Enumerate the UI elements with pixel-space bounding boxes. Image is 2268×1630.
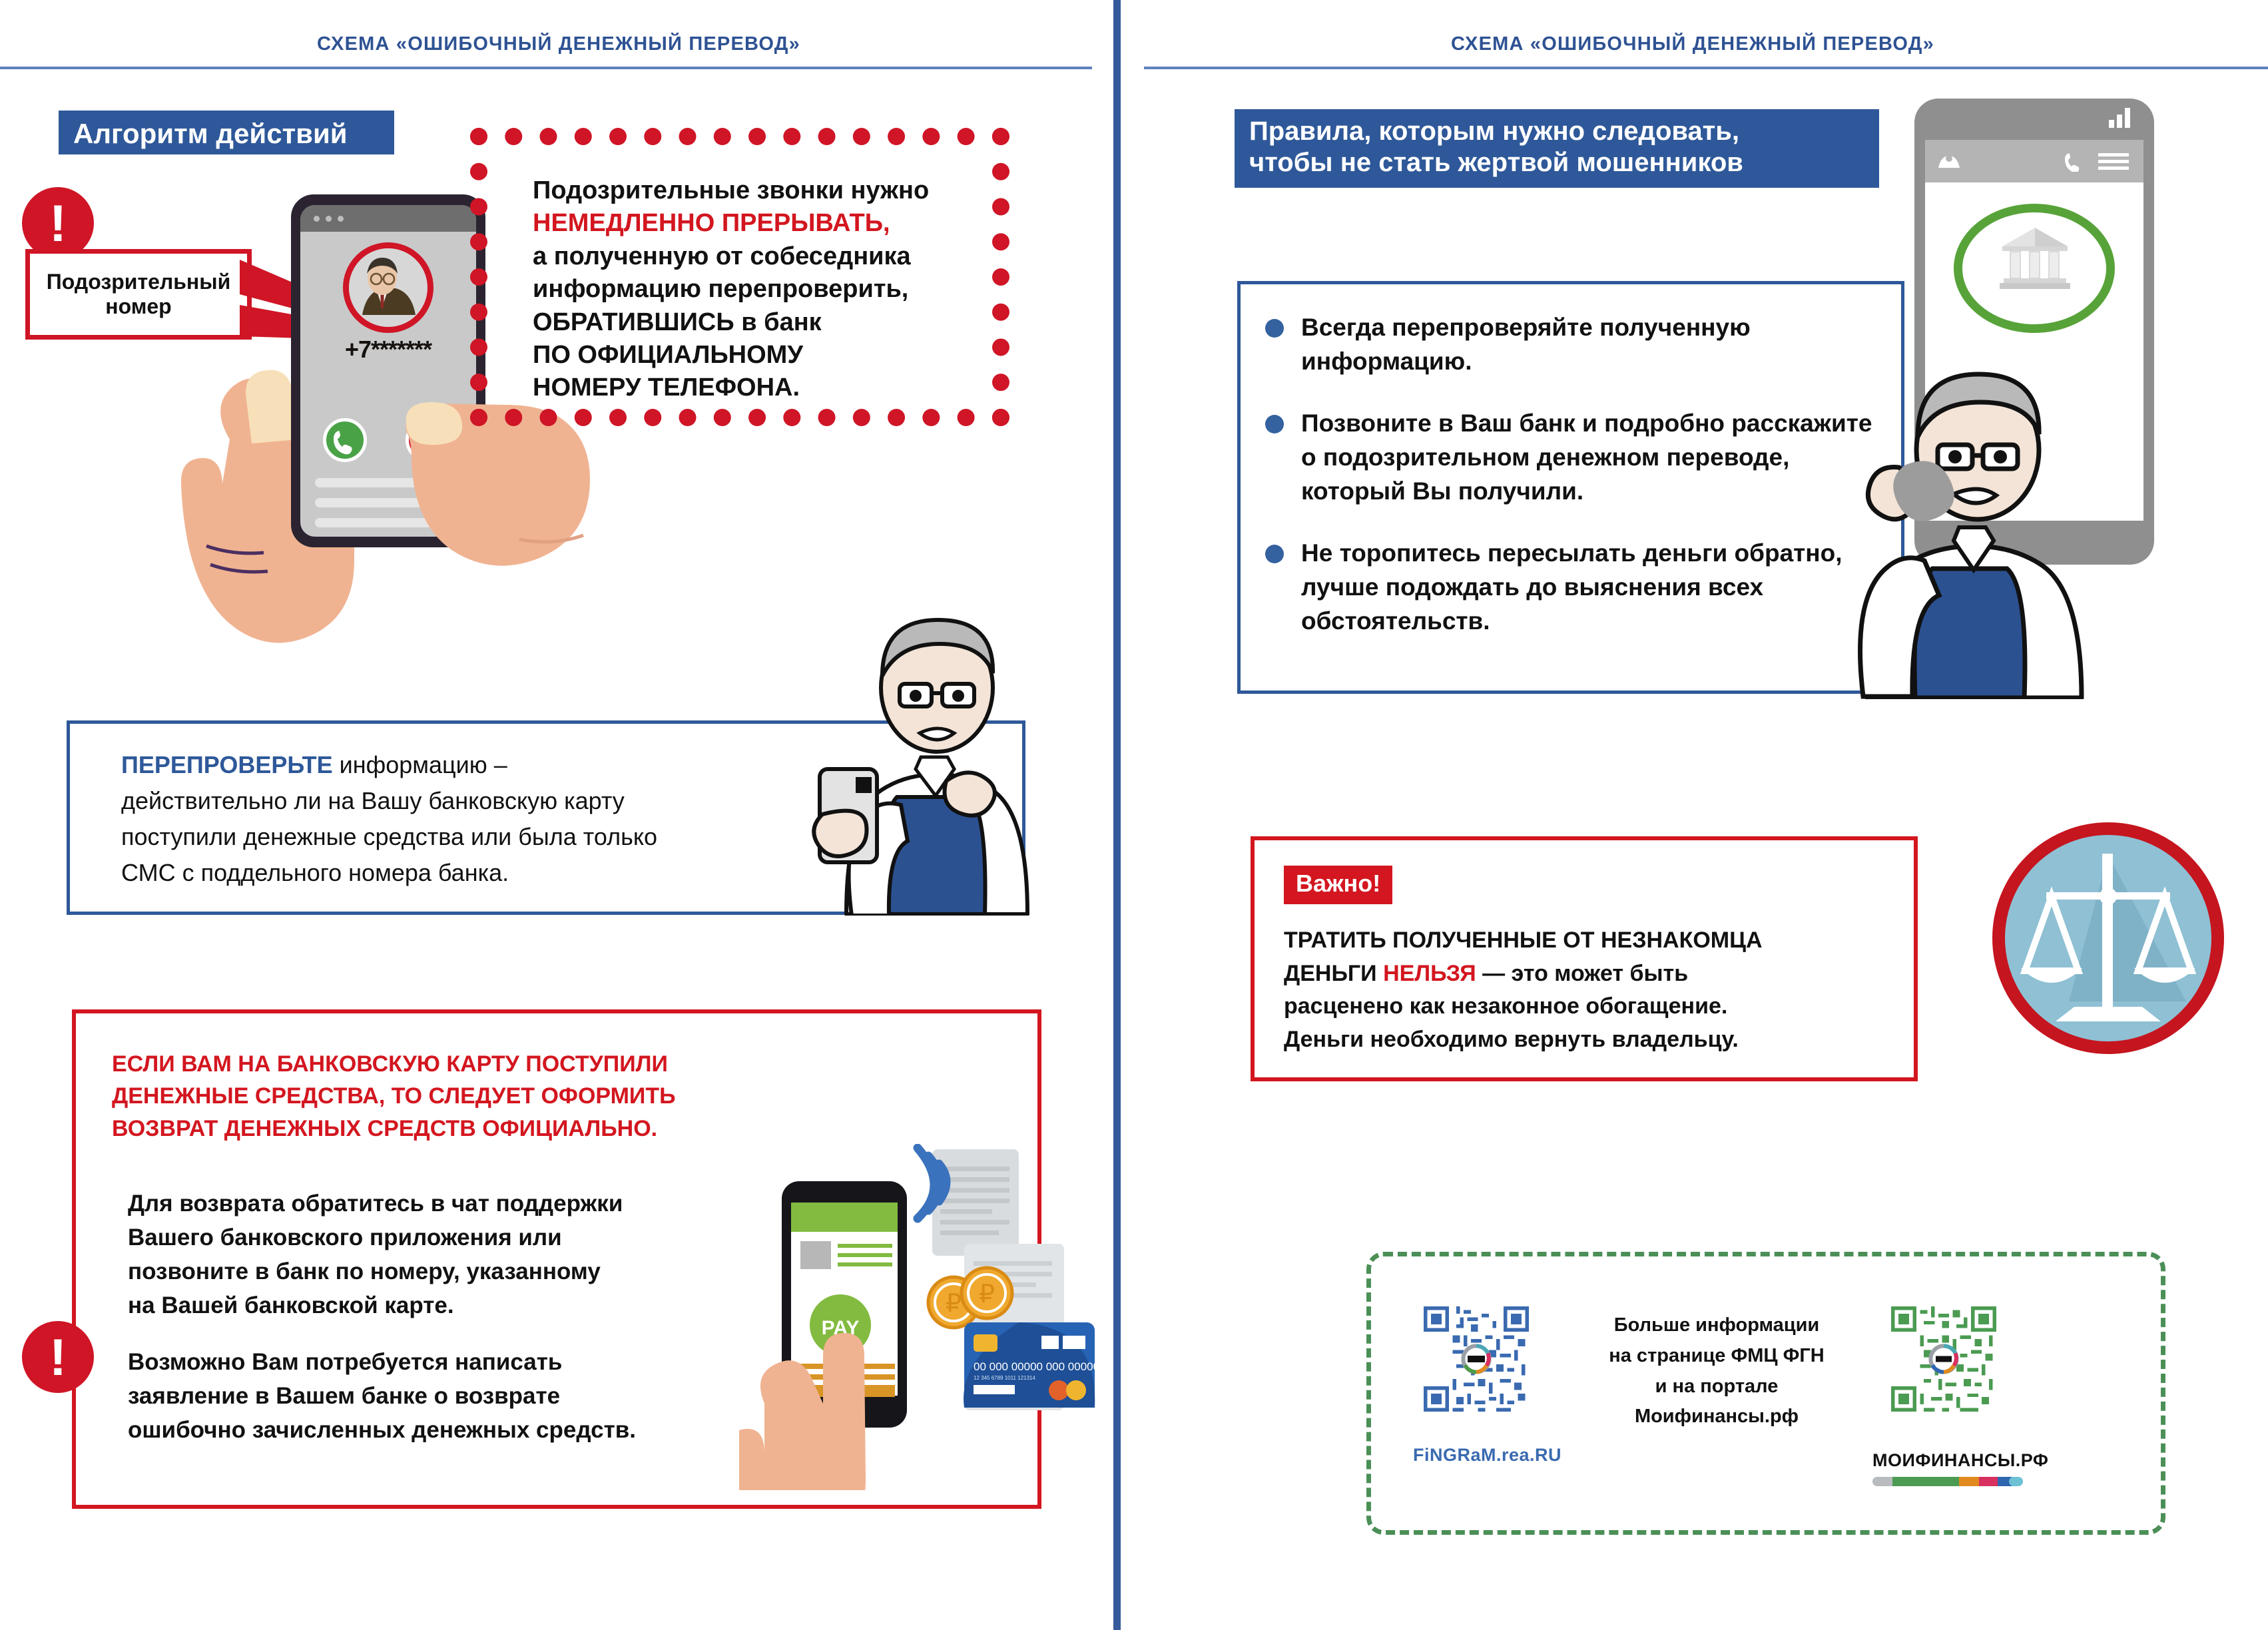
refund-p2-line-3: ошибочно зачисленных денежных средств. bbox=[128, 1413, 740, 1447]
important-text: ТРАТИТЬ ПОЛУЧЕННЫЕ ОТ НЕЗНАКОМЦА ДЕНЬГИ … bbox=[1284, 924, 1883, 1057]
important-line-1: ТРАТИТЬ ПОЛУЧЕННЫЕ ОТ НЕЗНАКОМЦА bbox=[1284, 924, 1883, 957]
more-info-line-2: на странице ФМЦ ФГН bbox=[1583, 1341, 1850, 1372]
important-line-2-red: НЕЛЬЗЯ bbox=[1383, 961, 1476, 986]
qr-caption-moifinansy: МОИФИНАНСЫ.РФ bbox=[1872, 1450, 2048, 1471]
left-page: СХЕМА «ОШИБОЧНЫЙ ДЕНЕЖНЫЙ ПЕРЕВОД» Алгор… bbox=[0, 0, 1117, 1630]
list-item: Всегда перепроверяйте полученную информа… bbox=[1265, 310, 1878, 378]
right-page-header-title: СХЕМА «ОШИБОЧНЫЙ ДЕНЕЖНЫЙ ПЕРЕВОД» bbox=[1117, 33, 2268, 55]
scales-of-justice-icon bbox=[1992, 822, 2224, 1054]
bank-app-topbar bbox=[1925, 140, 2143, 182]
more-info-line-3: и на портале bbox=[1583, 1372, 1850, 1402]
svg-text:₽: ₽ bbox=[946, 1290, 962, 1318]
phone-statusbar bbox=[300, 205, 476, 232]
worried-man-with-phone-illustration bbox=[782, 603, 1049, 916]
card-subline-text: 12 345 6789 1011 121314 bbox=[974, 1375, 1035, 1381]
refund-p1-line-4: на Вашей банковской карте. bbox=[128, 1288, 740, 1322]
rule-text: Не торопитесь пересылать деньги обратно,… bbox=[1301, 536, 1878, 638]
dotted-line-1: Подозрительные звонки нужно bbox=[533, 174, 1025, 207]
qr-code-moifinansy[interactable] bbox=[1891, 1306, 1996, 1412]
warning-icon-suspicious: ! bbox=[22, 187, 94, 259]
refund-p2-line-2: заявление в Вашем банке о возврате bbox=[128, 1379, 740, 1413]
more-info-line-4: Моифинансы.рф bbox=[1583, 1402, 1850, 1432]
dotted-line-4: информацию перепроверить, bbox=[533, 273, 1025, 306]
more-info-text: Больше информации на странице ФМЦ ФГН и … bbox=[1583, 1310, 1850, 1432]
caller-number: +7******* bbox=[300, 336, 476, 364]
recheck-line-1-rest: информацию – bbox=[333, 751, 507, 778]
refund-paragraph-1: Для возврата обратитесь в чат поддержки … bbox=[128, 1187, 740, 1322]
bullet-icon bbox=[1265, 545, 1284, 563]
right-header-rule bbox=[1144, 67, 2268, 69]
important-line-4: Деньги необходимо вернуть владельцу. bbox=[1284, 1023, 1883, 1057]
left-page-header-title: СХЕМА «ОШИБОЧНЫЙ ДЕНЕЖНЫЙ ПЕРЕВОД» bbox=[0, 33, 1117, 55]
section-tag-rules: Правила, которым нужно следовать, чтобы … bbox=[1235, 109, 1879, 188]
refund-heading-line-1: ЕСЛИ ВАМ НА БАНКОВСКУЮ КАРТУ ПОСТУПИЛИ bbox=[112, 1048, 951, 1080]
left-header-rule bbox=[0, 67, 1092, 69]
refund-heading: ЕСЛИ ВАМ НА БАНКОВСКУЮ КАРТУ ПОСТУПИЛИ Д… bbox=[112, 1048, 951, 1145]
list-item: Позвоните в Ваш банк и подробно расскажи… bbox=[1265, 406, 1878, 508]
mobile-payment-illustration: PAY ₽ ₽ 00 000 00000 000 00000 12 345 67… bbox=[739, 1144, 1112, 1490]
section-tag-rules-line-2: чтобы не стать жертвой мошенников bbox=[1249, 147, 1864, 178]
qr-code-fingram[interactable] bbox=[1424, 1306, 1529, 1412]
important-line-3: расценено как незаконное обогащение. bbox=[1284, 990, 1883, 1023]
svg-text:₽: ₽ bbox=[979, 1280, 995, 1308]
important-line-2-a: ДЕНЬГИ bbox=[1284, 961, 1383, 986]
recheck-highlight: ПЕРЕПРОВЕРЬТЕ bbox=[121, 751, 333, 778]
dotted-line-6: ПО ОФИЦИАЛЬНОМУ bbox=[533, 339, 1025, 372]
signal-bars-icon bbox=[2108, 105, 2134, 128]
phone-accept-icon[interactable] bbox=[323, 418, 367, 462]
refund-p1-line-3: позвоните в банк по номеру, указанному bbox=[128, 1254, 740, 1288]
dotted-line-7: НОМЕРУ ТЕЛЕФОНА. bbox=[533, 372, 1025, 404]
qr-caption-fingram: FiNGRaM.rea.RU bbox=[1413, 1445, 1561, 1466]
refund-p1-line-2: Вашего банковского приложения или bbox=[128, 1221, 740, 1254]
dotted-line-2: НЕМЕДЛЕННО ПРЕРЫВАТЬ, bbox=[533, 207, 1025, 240]
rule-text: Всегда перепроверяйте полученную информа… bbox=[1301, 310, 1878, 378]
rules-list: Всегда перепроверяйте полученную информа… bbox=[1265, 310, 1878, 666]
more-info-line-1: Больше информации bbox=[1583, 1310, 1850, 1341]
dotted-advice-text: Подозрительные звонки нужно НЕМЕДЛЕННО П… bbox=[533, 174, 1025, 405]
refund-heading-line-3: ВОЗВРАТ ДЕНЕЖНЫХ СРЕДСТВ ОФИЦИАЛЬНО. bbox=[112, 1113, 951, 1145]
refund-p1-line-1: Для возврата обратитесь в чат поддержки bbox=[128, 1187, 740, 1221]
right-page: СХЕМА «ОШИБОЧНЫЙ ДЕНЕЖНЫЙ ПЕРЕВОД» Прави… bbox=[1117, 0, 2268, 1630]
section-tag-rules-line-1: Правила, которым нужно следовать, bbox=[1249, 116, 1864, 147]
warning-icon-refund: ! bbox=[22, 1321, 94, 1393]
list-item: Не торопитесь пересылать деньги обратно,… bbox=[1265, 536, 1878, 638]
call-icon bbox=[2064, 150, 2086, 172]
important-line-2-b: — это может быть bbox=[1476, 961, 1688, 986]
man-calling-bank-illustration bbox=[1823, 353, 2116, 699]
card-number-text: 00 000 00000 000 00000 bbox=[974, 1360, 1099, 1373]
dotted-line-5: ОБРАТИВШИСЬ в банк bbox=[533, 306, 1025, 339]
hamburger-menu-icon bbox=[2098, 153, 2129, 170]
profile-icon bbox=[1936, 150, 1962, 172]
bullet-icon bbox=[1265, 415, 1284, 433]
dotted-line-3: а полученную от собеседника bbox=[533, 240, 1025, 273]
caller-avatar bbox=[343, 242, 433, 333]
section-tag-algorithm: Алгоритм действий bbox=[59, 111, 394, 154]
important-badge: Важно! bbox=[1284, 866, 1392, 904]
rule-text: Позвоните в Ваш банк и подробно расскажи… bbox=[1301, 406, 1878, 508]
bank-building-icon bbox=[1998, 226, 2072, 292]
refund-heading-line-2: ДЕНЕЖНЫЕ СРЕДСТВА, ТО СЛЕДУЕТ ОФОРМИТЬ bbox=[112, 1080, 951, 1112]
moifinansy-logo-bar bbox=[1872, 1476, 2023, 1488]
refund-paragraph-2: Возможно Вам потребуется написать заявле… bbox=[128, 1345, 740, 1447]
bullet-icon bbox=[1265, 319, 1284, 338]
refund-p2-line-1: Возможно Вам потребуется написать bbox=[128, 1345, 740, 1379]
